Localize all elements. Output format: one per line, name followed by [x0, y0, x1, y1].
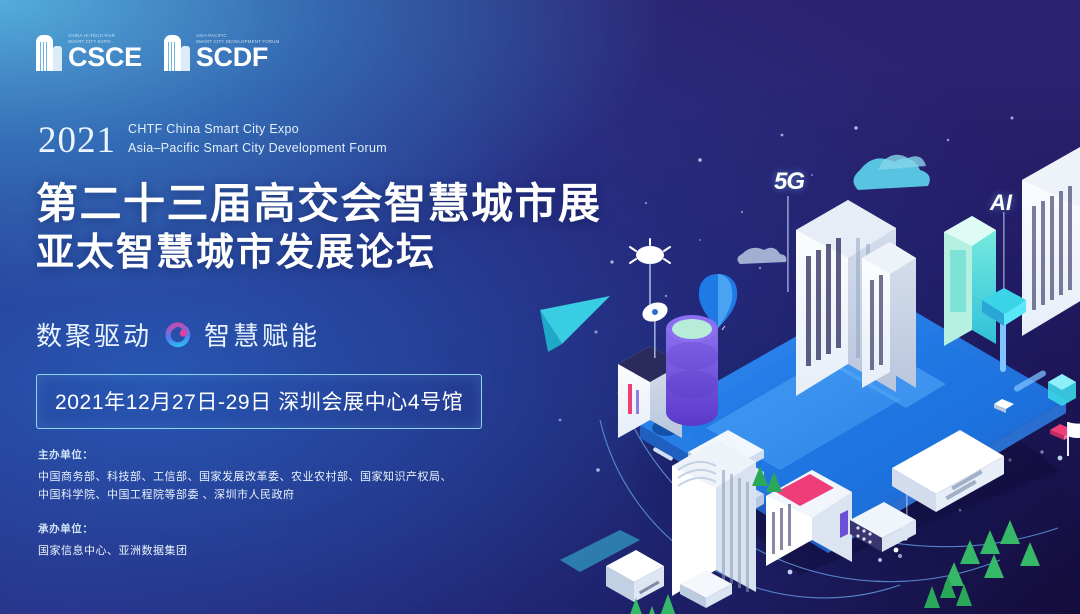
page-title-line-2: 亚太智慧城市发展论坛 [36, 232, 436, 275]
date-venue-text: 2021年12月27日-29日 深圳会展中心4号馆 [55, 386, 463, 416]
scdf-tagline-2: SMART CITY DEVELOPMENT FORUM [196, 39, 280, 45]
gradient-ring-icon [164, 321, 192, 349]
slogan: 数聚驱动 智慧赋能 [36, 316, 320, 353]
organizer-organizations: 承办单位： 国家信息中心、亚洲数据集团 [38, 521, 188, 561]
page-title-line-1: 第二十三届高交会智慧城市展 [36, 180, 602, 227]
organizer-label: 承办单位： [38, 521, 188, 536]
host-line-1: 中国商务部、科技部、工信部、国家发展改革委、农业农村部、国家知识产权局、 [38, 469, 452, 487]
scdf-building-icon [164, 35, 190, 71]
poster-content: CHINA HI-TECH FAIR SMART CITY EXPO CSCE … [0, 0, 1080, 614]
scdf-wordmark: SCDF [196, 45, 280, 71]
host-line-2: 中国科学院、中国工程院等部委 、深圳市人民政府 [38, 487, 452, 505]
slogan-right: 智慧赋能 [204, 316, 320, 353]
csce-building-icon [36, 35, 62, 71]
year-and-english-titles: 2021 CHTF China Smart City Expo Asia–Pac… [38, 122, 387, 159]
poster-root: 5G AI CHINA HI-TECH FAIR SMART CITY EXPO… [0, 0, 1080, 614]
organizer-line-1: 国家信息中心、亚洲数据集团 [38, 543, 188, 561]
csce-wordmark: CSCE [68, 45, 142, 71]
english-title-line-2: Asia–Pacific Smart City Development Foru… [128, 141, 387, 157]
date-venue-box: 2021年12月27日-29日 深圳会展中心4号馆 [36, 374, 482, 429]
slogan-left: 数聚驱动 [36, 316, 152, 353]
csce-tagline-2: SMART CITY EXPO [68, 39, 142, 45]
host-label: 主办单位： [38, 447, 452, 462]
logo-bar: CHINA HI-TECH FAIR SMART CITY EXPO CSCE … [36, 33, 279, 71]
year-label: 2021 [38, 122, 116, 159]
scdf-logo: ASIA-PACIFIC SMART CITY DEVELOPMENT FORU… [164, 33, 280, 71]
english-title-line-1: CHTF China Smart City Expo [128, 122, 387, 138]
csce-logo: CHINA HI-TECH FAIR SMART CITY EXPO CSCE [36, 33, 142, 71]
host-organizations: 主办单位： 中国商务部、科技部、工信部、国家发展改革委、农业农村部、国家知识产权… [38, 447, 452, 505]
